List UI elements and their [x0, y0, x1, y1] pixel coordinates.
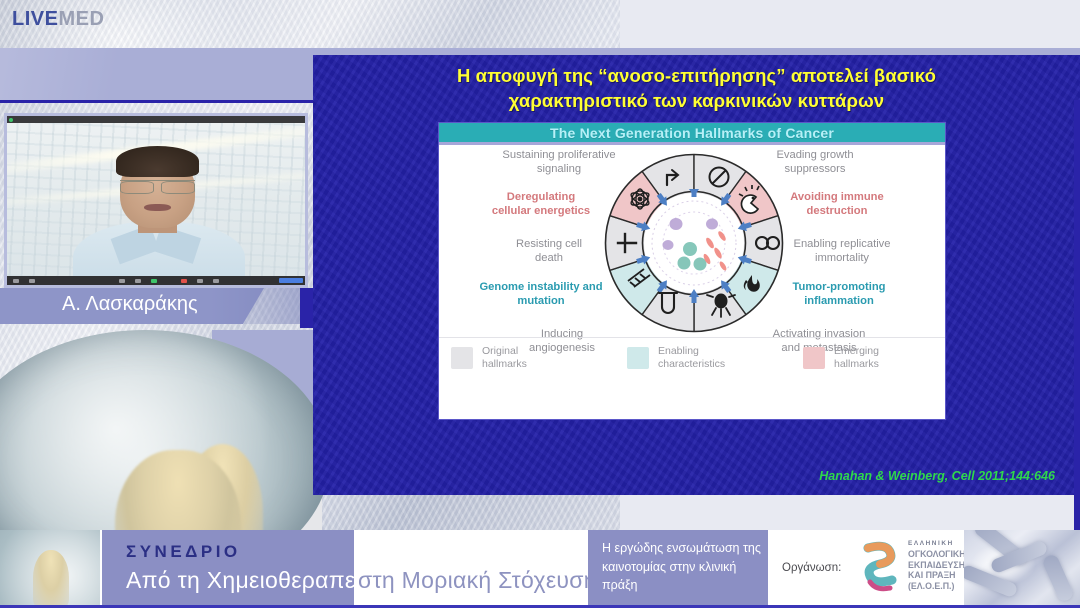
- legend-label-original: Originalhallmarks: [482, 345, 527, 370]
- microscopy-rod-4: [1041, 553, 1075, 603]
- glasses-icon: [120, 180, 195, 192]
- session-bar-left-gradient: [0, 48, 190, 100]
- congress-subtitle: Η εργώδης ενσωμάτωση της καινοτομίας στη…: [602, 539, 764, 595]
- speaker-name: Α. Λασκαράκης: [62, 293, 198, 316]
- banner-statue-image: [0, 530, 100, 608]
- legend-item-emerging: Emerginghallmarks: [803, 345, 879, 370]
- slide-title-line-2: χαρακτηριστικό των καρκινικών κυττάρων: [313, 88, 1080, 113]
- speaker-video-frame[interactable]: [4, 113, 308, 288]
- legend-item-enabling: Enablingcharacteristics: [627, 345, 803, 370]
- speaker-hair: [116, 146, 199, 176]
- hallmarks-figure: The Next Generation Hallmarks of Cancer …: [438, 122, 946, 420]
- toolbar-icon-1[interactable]: [13, 279, 19, 283]
- hallmarks-legend: Originalhallmarks Enablingcharacteristic…: [439, 337, 945, 377]
- legend-swatch-enabling: [627, 347, 649, 369]
- toolbar-icon-2[interactable]: [29, 279, 35, 283]
- toolbar-share-icon[interactable]: [151, 279, 157, 283]
- video-app-titlebar: [7, 116, 305, 123]
- congress-title-part-a: Από τη Χημειοθεραπεία: [126, 567, 374, 594]
- hallmarks-wheel: [604, 153, 784, 333]
- toolbar-icon-6[interactable]: [213, 279, 219, 283]
- toolbar-leave-button[interactable]: [279, 278, 303, 283]
- hallmark-label-resisting-cell-death: Resisting celldeath: [479, 238, 619, 265]
- legend-swatch-emerging: [803, 347, 825, 369]
- toolbar-icon-5[interactable]: [197, 279, 203, 283]
- slide-right-edge: [1074, 100, 1080, 530]
- presentation-slide[interactable]: Η αποφυγή της “ανοσο-επιτήρησης” αποτελε…: [313, 55, 1080, 495]
- toolbar-record-icon[interactable]: [181, 279, 187, 283]
- hallmark-label-deregulating-cellular-energetics: Deregulatingcellular energetics: [457, 191, 625, 218]
- congress-title-part-b: στη Μοριακή Στόχευση: [358, 567, 597, 594]
- eloep-logo-icon: [852, 538, 904, 600]
- hallmarks-figure-body: Sustaining proliferativesignaling Evadin…: [439, 145, 945, 377]
- legend-item-original: Originalhallmarks: [451, 345, 627, 370]
- organizer-label: Οργάνωσn:: [782, 562, 841, 574]
- hallmarks-figure-header: The Next Generation Hallmarks of Cancer: [439, 123, 945, 145]
- banner-microscopy-image: [964, 530, 1080, 608]
- microscopy-rod-3: [964, 564, 1019, 599]
- toolbar-icon-4[interactable]: [135, 279, 141, 283]
- congress-kicker: ΣΥΝΕΔΡΙΟ: [126, 542, 241, 562]
- video-app-toolbar[interactable]: [7, 276, 305, 285]
- legend-label-emerging: Emerginghallmarks: [834, 345, 879, 370]
- slide-citation: Hanahan & Weinberg, Cell 2011;144:646: [819, 469, 1055, 483]
- legend-swatch-original: [451, 347, 473, 369]
- hallmarks-figure-title: The Next Generation Hallmarks of Cancer: [550, 125, 834, 141]
- speaker-name-bar-cap: [300, 288, 314, 328]
- slide-title: Η αποφυγή της “ανοσο-επιτήρησης” αποτελε…: [313, 63, 1080, 113]
- slide-title-line-1: Η αποφυγή της “ανοσο-επιτήρησης” αποτελε…: [313, 63, 1080, 88]
- speaker-video-feed[interactable]: [7, 116, 305, 285]
- broadcast-viewport: LIVEMED Anti-CTLA4: [0, 0, 1080, 608]
- legend-label-enabling: Enablingcharacteristics: [658, 345, 725, 370]
- logo-live-text: LIVE: [12, 8, 58, 30]
- toolbar-icon-3[interactable]: [119, 279, 125, 283]
- logo-med-text: MED: [58, 8, 104, 30]
- livemed-logo: LIVEMED: [12, 8, 104, 31]
